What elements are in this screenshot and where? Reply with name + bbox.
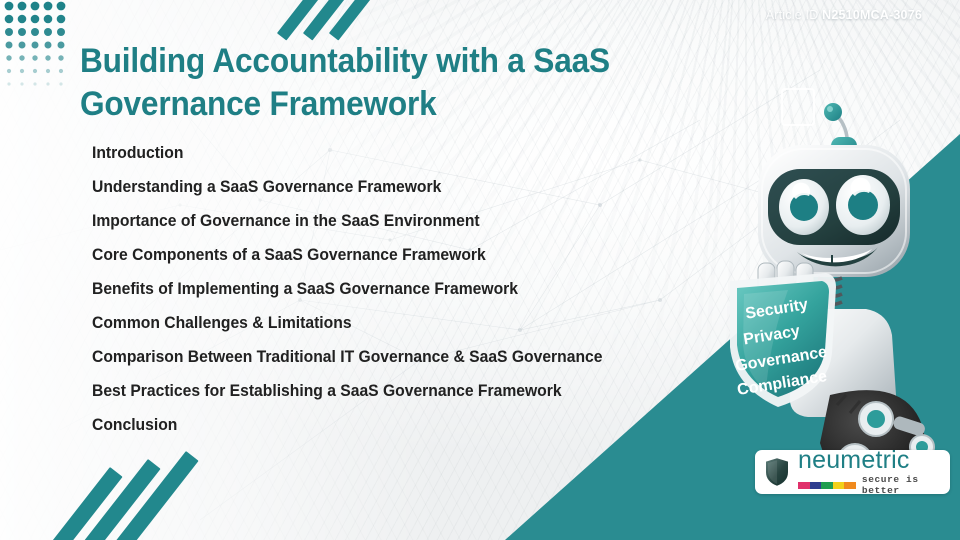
article-id-label: Article ID [766, 8, 819, 22]
diagonal-stripes-bottom [110, 455, 270, 540]
list-item[interactable]: Understanding a SaaS Governance Framewor… [92, 170, 700, 204]
robot-mascot: Security Privacy Governance Compliance [700, 95, 960, 455]
slide-canvas: Article ID N2510MCA-3076 Building Accoun… [0, 0, 960, 540]
list-item[interactable]: Core Components of a SaaS Governance Fra… [92, 238, 700, 272]
table-of-contents: Introduction Understanding a SaaS Govern… [92, 136, 732, 442]
list-item[interactable]: Conclusion [92, 408, 700, 442]
article-id: Article ID N2510MCA-3076 [766, 8, 922, 22]
logo-tagline: secure is better [862, 474, 943, 496]
list-item[interactable]: Importance of Governance in the SaaS Env… [92, 204, 700, 238]
shield-icon [762, 455, 792, 489]
neumetric-logo[interactable]: neumetric secure is better [755, 450, 950, 494]
logo-subline: secure is better [798, 474, 943, 496]
list-item[interactable]: Benefits of Implementing a SaaS Governan… [92, 272, 700, 306]
logo-wordmark: neumetric [798, 448, 943, 472]
list-item[interactable]: Introduction [92, 136, 700, 170]
article-id-value: N2510MCA-3076 [822, 8, 922, 22]
logo-text-block: neumetric secure is better [798, 448, 943, 496]
list-item[interactable]: Best Practices for Establishing a SaaS G… [92, 374, 700, 408]
robot-head [758, 145, 910, 277]
list-item[interactable]: Common Challenges & Limitations [92, 306, 700, 340]
logo-color-bar [798, 482, 856, 489]
page-title: Building Accountability with a SaaS Gove… [80, 40, 796, 126]
list-item[interactable]: Comparison Between Traditional IT Govern… [92, 340, 700, 374]
